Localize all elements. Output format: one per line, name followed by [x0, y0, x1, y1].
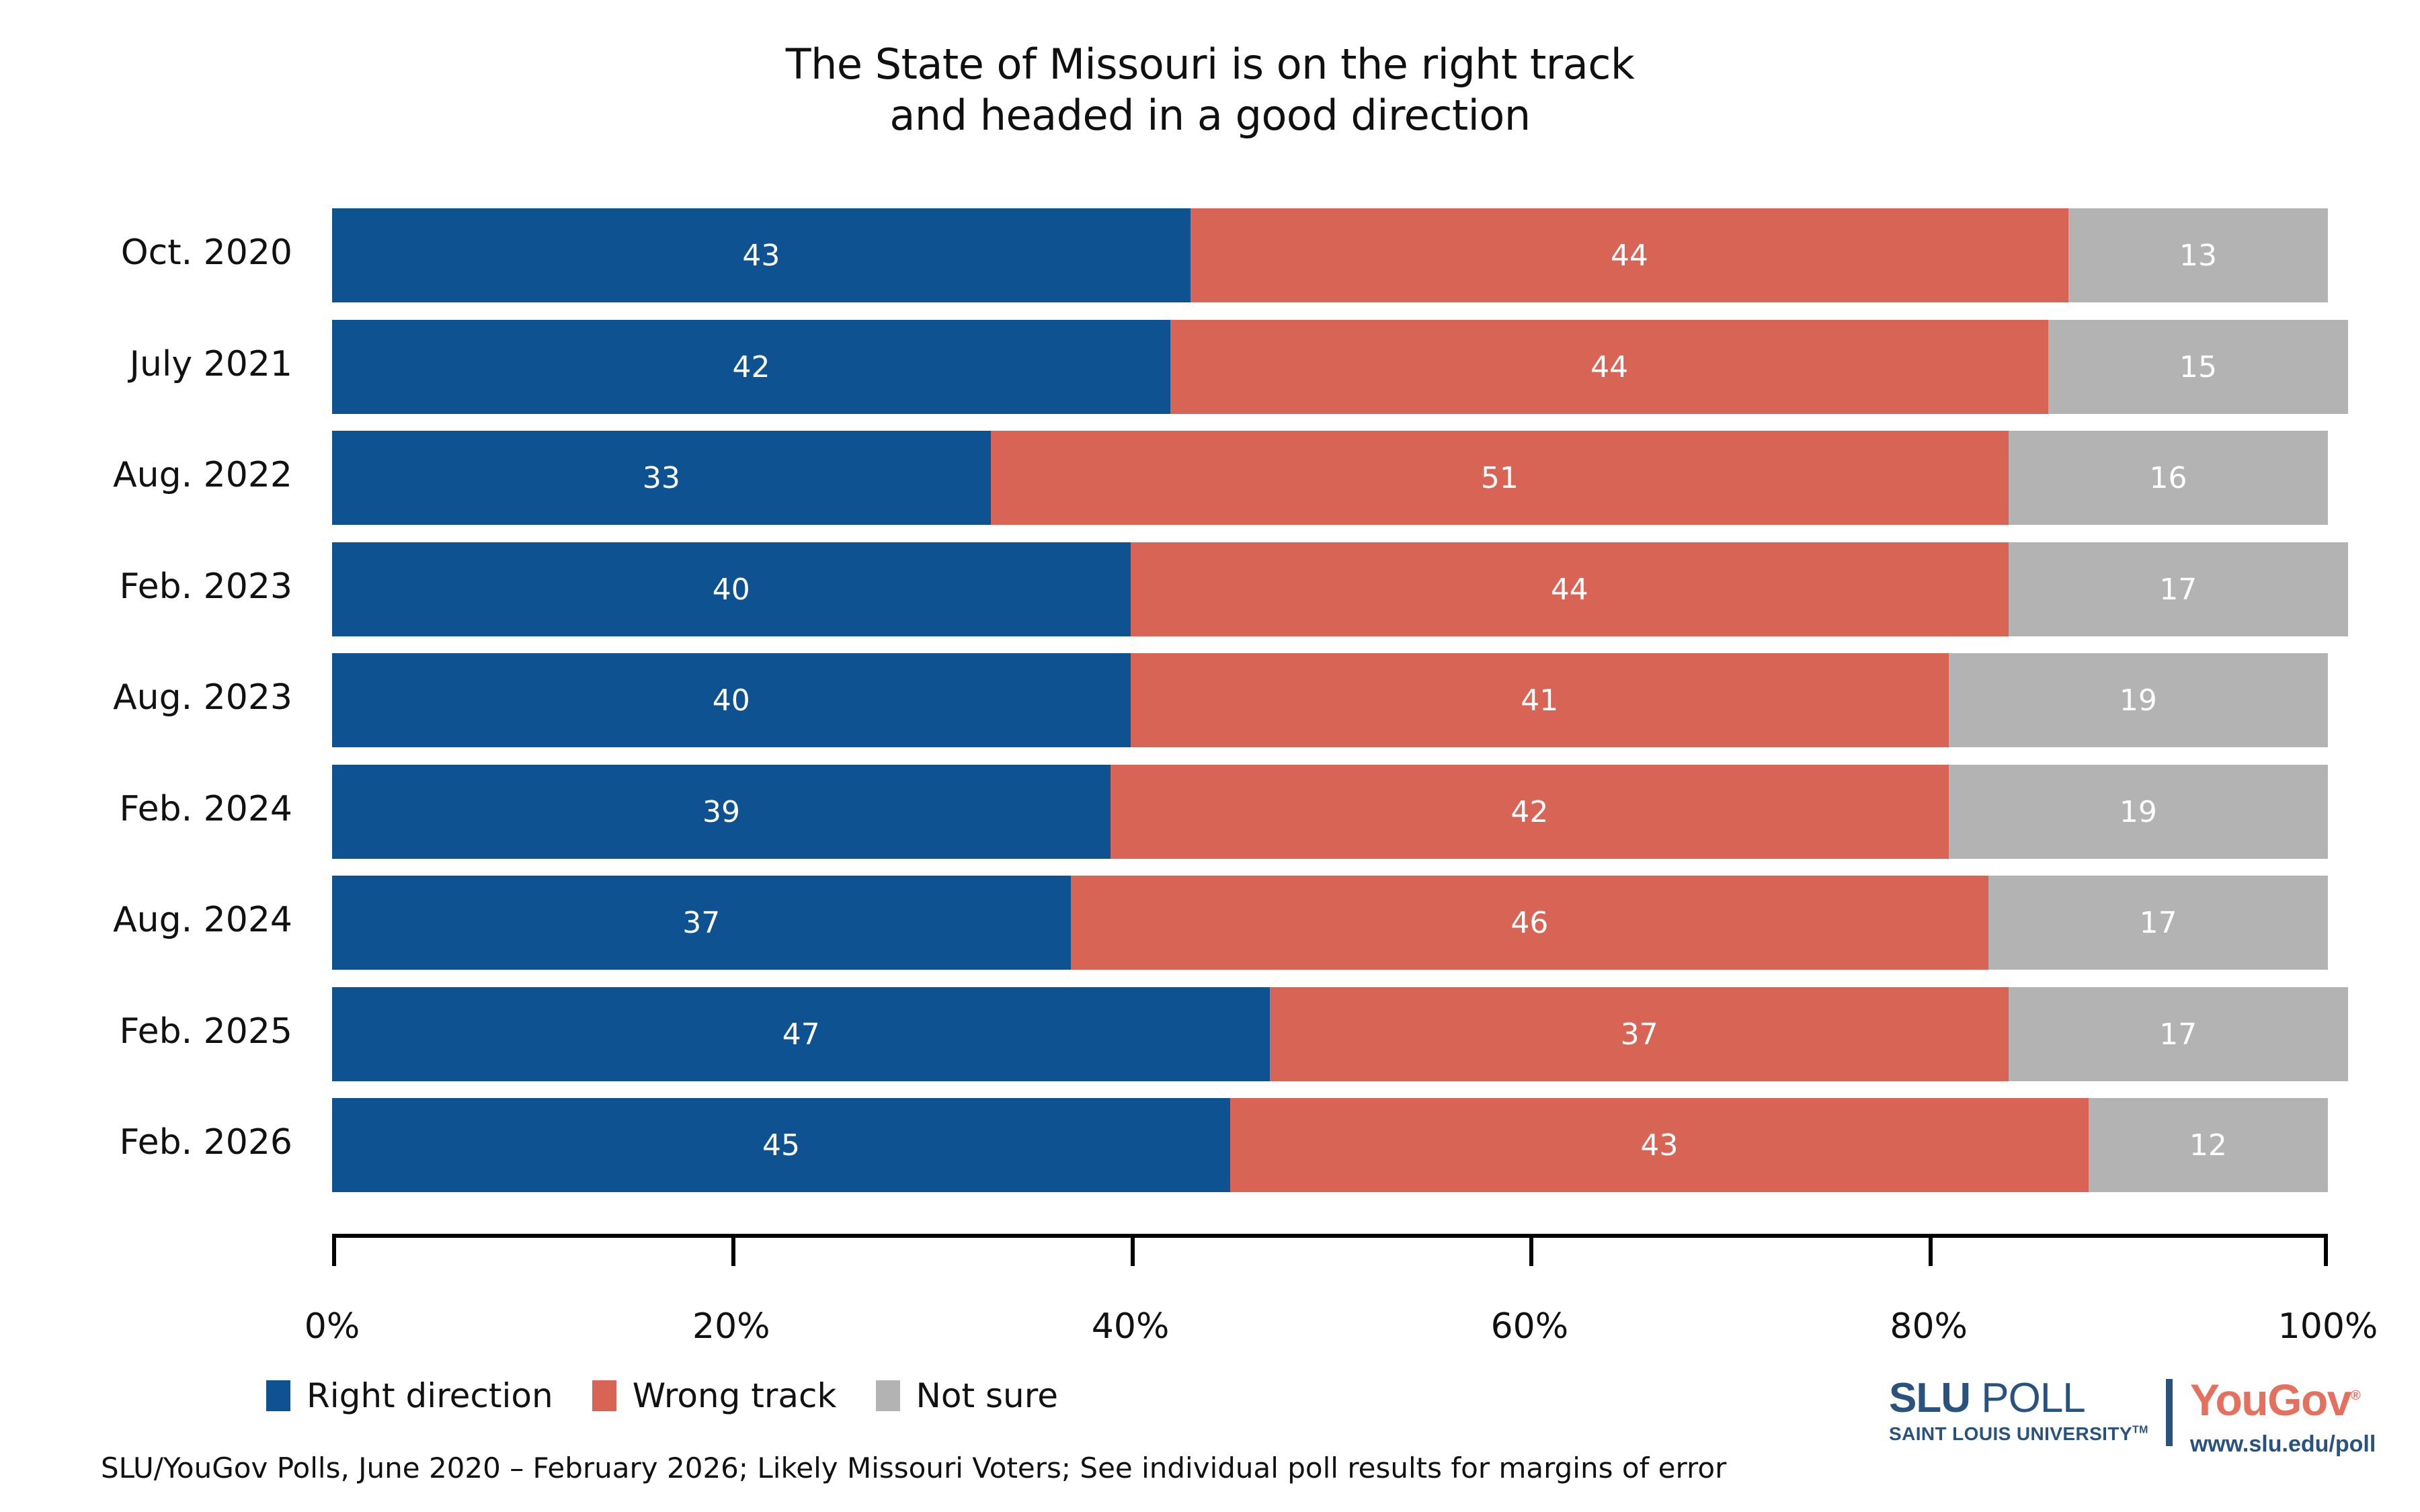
bar-value-label: 45 — [762, 1128, 800, 1163]
bar-row: 424415 — [332, 320, 2328, 414]
bar-value-label: 46 — [1510, 906, 1548, 940]
bar-value-label: 51 — [1481, 461, 1519, 495]
bar-segment-wrong-track: 44 — [1191, 208, 2068, 302]
chart-title-line-1: The State of Missouri is on the right tr… — [0, 39, 2420, 90]
bar-value-label: 17 — [2159, 573, 2197, 607]
bar-value-label: 40 — [713, 683, 750, 718]
logo-lockup: SLU POLL SAINT LOUIS UNIVERSITYTM YouGov… — [1889, 1378, 2380, 1458]
x-axis-tick — [332, 1234, 336, 1266]
bar-segment-right-direction: 45 — [332, 1098, 1230, 1192]
y-axis-label-4: Aug. 2023 — [0, 677, 292, 718]
bar-row: 394219 — [332, 765, 2328, 859]
bar-segment-right-direction: 43 — [332, 208, 1191, 302]
legend-swatch-icon — [266, 1380, 290, 1411]
slu-poll-url: www.slu.edu/poll — [2190, 1431, 2376, 1458]
bar-value-label: 43 — [742, 239, 780, 273]
legend-item[interactable]: Right direction — [266, 1376, 553, 1415]
bar-value-label: 44 — [1590, 350, 1628, 384]
y-axis-label-6: Aug. 2024 — [0, 900, 292, 940]
bar-value-label: 37 — [682, 906, 720, 940]
y-axis-label-1: July 2021 — [0, 344, 292, 384]
bar-segment-not-sure: 13 — [2068, 208, 2328, 302]
bar-value-label: 43 — [1640, 1128, 1678, 1163]
x-axis — [332, 1234, 2328, 1234]
bar-row: 454312 — [332, 1098, 2328, 1192]
chart-legend: Right directionWrong trackNot sure — [266, 1376, 1097, 1415]
bar-segment-not-sure: 15 — [2048, 320, 2347, 414]
y-axis-label-0: Oct. 2020 — [0, 233, 292, 273]
bar-segment-right-direction: 37 — [332, 876, 1071, 970]
bar-value-label: 47 — [782, 1017, 820, 1052]
legend-label: Not sure — [916, 1376, 1058, 1415]
slu-poll-wordmark: SLU POLL — [1889, 1378, 2148, 1419]
bar-segment-not-sure: 17 — [2009, 987, 2348, 1081]
x-axis-tick-label: 40% — [1030, 1306, 1232, 1347]
y-axis-label-8: Feb. 2026 — [0, 1122, 292, 1163]
bar-segment-wrong-track: 41 — [1131, 653, 1949, 747]
bar-value-label: 41 — [1521, 683, 1558, 718]
yougov-wordmark: YouGov® — [2190, 1378, 2359, 1422]
bar-segment-right-direction: 40 — [332, 653, 1131, 747]
chart-title-line-2: and headed in a good direction — [0, 90, 2420, 141]
bar-segment-wrong-track: 37 — [1270, 987, 2009, 1081]
bar-value-label: 19 — [2120, 683, 2157, 718]
x-axis-tick-label: 100% — [2227, 1306, 2420, 1347]
bar-segment-right-direction: 33 — [332, 431, 991, 525]
bar-value-label: 44 — [1551, 573, 1588, 607]
bar-row: 473717 — [332, 987, 2328, 1081]
legend-item[interactable]: Wrong track — [592, 1376, 837, 1415]
trademark-icon: TM — [2132, 1425, 2148, 1436]
poll-text: POLL — [1981, 1375, 2085, 1421]
bar-value-label: 17 — [2159, 1017, 2197, 1052]
source-note: SLU/YouGov Polls, June 2020 – February 2… — [101, 1452, 1726, 1484]
bar-segment-wrong-track: 43 — [1230, 1098, 2089, 1192]
bar-segment-wrong-track: 46 — [1071, 876, 1989, 970]
slu-poll-logo: SLU POLL SAINT LOUIS UNIVERSITYTM — [1889, 1378, 2148, 1445]
bar-value-label: 16 — [2149, 461, 2187, 495]
brand-logo: SLU POLL SAINT LOUIS UNIVERSITYTM YouGov… — [1889, 1378, 2380, 1485]
x-axis-tick — [1929, 1234, 1933, 1266]
bar-value-label: 37 — [1621, 1017, 1658, 1052]
x-axis-tick — [2324, 1234, 2328, 1266]
bar-segment-not-sure: 17 — [2009, 542, 2348, 636]
legend-label: Wrong track — [633, 1376, 837, 1415]
bar-segment-not-sure: 19 — [1949, 653, 2328, 747]
bar-segment-right-direction: 47 — [332, 987, 1270, 1081]
stacked-bar-plot-area: 4344134244153351164044174041193942193746… — [332, 208, 2328, 1203]
bar-value-label: 40 — [713, 573, 750, 607]
x-axis-tick-label: 20% — [631, 1306, 832, 1347]
bar-segment-wrong-track: 44 — [1131, 542, 2009, 636]
bar-value-label: 42 — [1510, 795, 1548, 829]
x-axis-line — [332, 1234, 2328, 1238]
chart-title: The State of Missouri is on the right tr… — [0, 39, 2420, 140]
x-axis-tick-label: 0% — [231, 1306, 433, 1347]
legend-label: Right direction — [307, 1376, 553, 1415]
x-axis-tick-label: 80% — [1828, 1306, 2029, 1347]
bar-segment-wrong-track: 44 — [1170, 320, 2048, 414]
x-axis-tick — [1529, 1234, 1533, 1266]
bar-value-label: 39 — [702, 795, 740, 829]
bar-row: 434413 — [332, 208, 2328, 302]
bar-segment-right-direction: 40 — [332, 542, 1131, 636]
bar-row: 374617 — [332, 876, 2328, 970]
bar-segment-not-sure: 17 — [1988, 876, 2328, 970]
x-axis-tick — [1131, 1234, 1135, 1266]
bar-segment-wrong-track: 42 — [1111, 765, 1949, 859]
legend-swatch-icon — [592, 1380, 616, 1411]
y-axis-label-3: Feb. 2023 — [0, 566, 292, 607]
bar-segment-right-direction: 39 — [332, 765, 1111, 859]
bar-value-label: 13 — [2179, 239, 2217, 273]
bar-segment-right-direction: 42 — [332, 320, 1170, 414]
bar-value-label: 12 — [2189, 1128, 2227, 1163]
legend-item[interactable]: Not sure — [876, 1376, 1058, 1415]
y-axis-label-5: Feb. 2024 — [0, 789, 292, 829]
saint-louis-university-text: SAINT LOUIS UNIVERSITYTM — [1889, 1423, 2148, 1445]
bar-value-label: 42 — [732, 350, 770, 384]
bar-row: 404417 — [332, 542, 2328, 636]
registered-icon: ® — [2351, 1388, 2359, 1403]
logo-divider — [2166, 1379, 2173, 1446]
bar-value-label: 44 — [1611, 239, 1648, 273]
legend-swatch-icon — [876, 1380, 900, 1411]
x-axis-tick — [731, 1234, 735, 1266]
bar-segment-not-sure: 19 — [1949, 765, 2328, 859]
bar-value-label: 33 — [643, 461, 680, 495]
bar-row: 404119 — [332, 653, 2328, 747]
y-axis-label-7: Feb. 2025 — [0, 1011, 292, 1052]
y-axis-label-2: Aug. 2022 — [0, 455, 292, 495]
yougov-logo: YouGov® www.slu.edu/poll — [2190, 1378, 2376, 1458]
bar-value-label: 17 — [2140, 906, 2177, 940]
bar-segment-not-sure: 12 — [2089, 1098, 2328, 1192]
bar-row: 335116 — [332, 431, 2328, 525]
x-axis-tick-label: 60% — [1428, 1306, 1630, 1347]
bar-segment-not-sure: 16 — [2009, 431, 2328, 525]
bar-segment-wrong-track: 51 — [991, 431, 2009, 525]
bar-value-label: 19 — [2120, 795, 2157, 829]
bar-value-label: 15 — [2179, 350, 2217, 384]
slu-text: SLU — [1889, 1375, 1970, 1421]
